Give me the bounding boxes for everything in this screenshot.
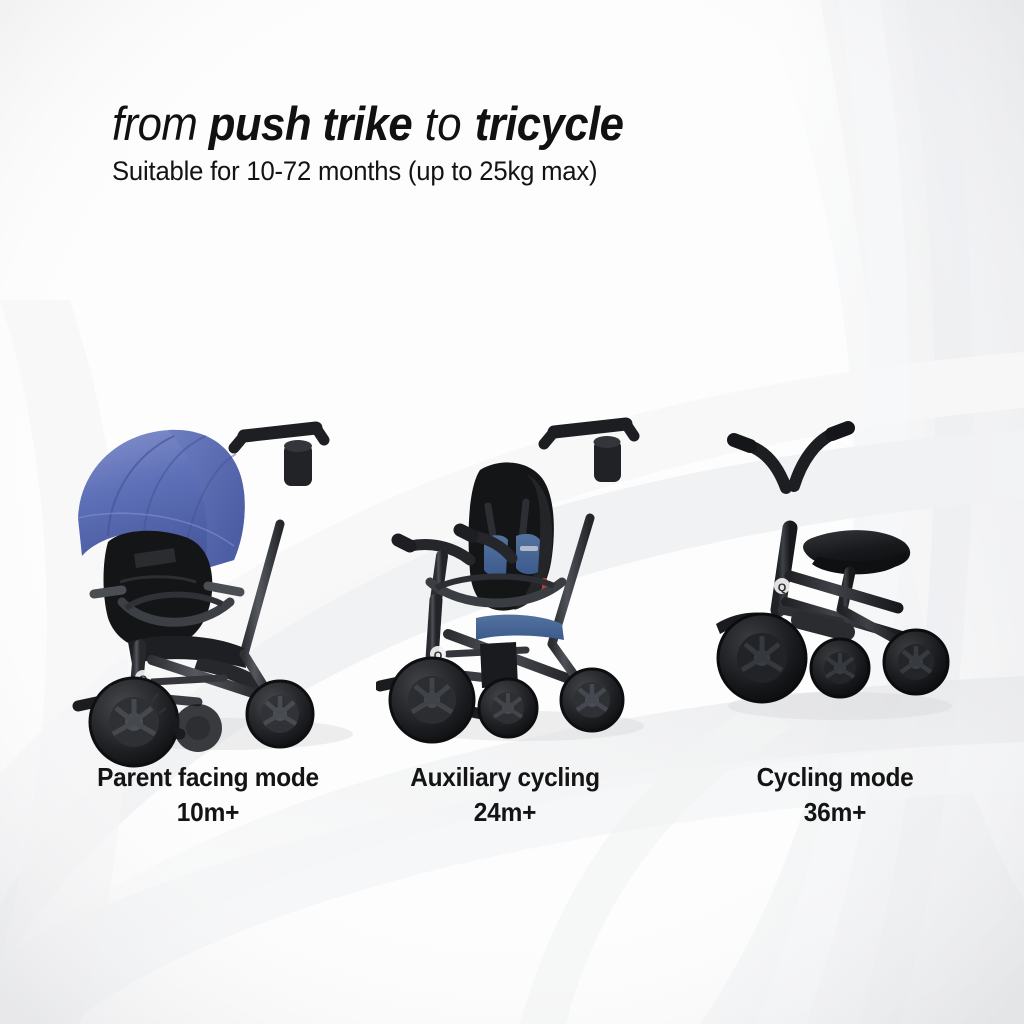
product-cycling-mode[interactable]: Q [690, 396, 990, 816]
caption-mode-label: Parent facing mode [39, 762, 377, 793]
page-title: from push trike to tricycle [112, 100, 856, 147]
product-gallery: Q [0, 396, 1024, 816]
page-subtitle: Suitable for 10-72 months (up to 25kg ma… [112, 156, 872, 187]
header-block: from push trike to tricycle Suitable for… [112, 100, 912, 187]
headline-part-push-trike: push trike [209, 97, 412, 150]
caption-mode-label: Auxiliary cycling [369, 762, 642, 793]
caption-parent-facing: Parent facing mode 10m+ [28, 762, 388, 828]
brand-mark-logo: Q [778, 582, 787, 594]
caption-auxiliary-cycling: Auxiliary cycling 24m+ [360, 762, 650, 828]
caption-age-label: 36m+ [699, 797, 972, 828]
caption-mode-label: Cycling mode [699, 762, 972, 793]
caption-age-label: 10m+ [39, 797, 377, 828]
product-parent-facing[interactable]: Q [48, 396, 388, 816]
trike-illustration-cycling-mode: Q [690, 396, 990, 816]
product-auxiliary-cycling[interactable]: Q [376, 396, 676, 816]
headline-part-from: from [112, 97, 209, 150]
trike-illustration-auxiliary-cycling: Q [376, 396, 676, 816]
product-infographic: from push trike to tricycle Suitable for… [0, 0, 1024, 1024]
caption-row: Parent facing mode 10m+ Auxiliary cyclin… [0, 762, 1024, 842]
headline-part-to: to [412, 97, 475, 150]
caption-cycling-mode: Cycling mode 36m+ [690, 762, 980, 828]
headline-part-tricycle: tricycle [475, 97, 624, 150]
trike-illustration-parent-facing: Q [48, 396, 388, 816]
caption-age-label: 24m+ [369, 797, 642, 828]
